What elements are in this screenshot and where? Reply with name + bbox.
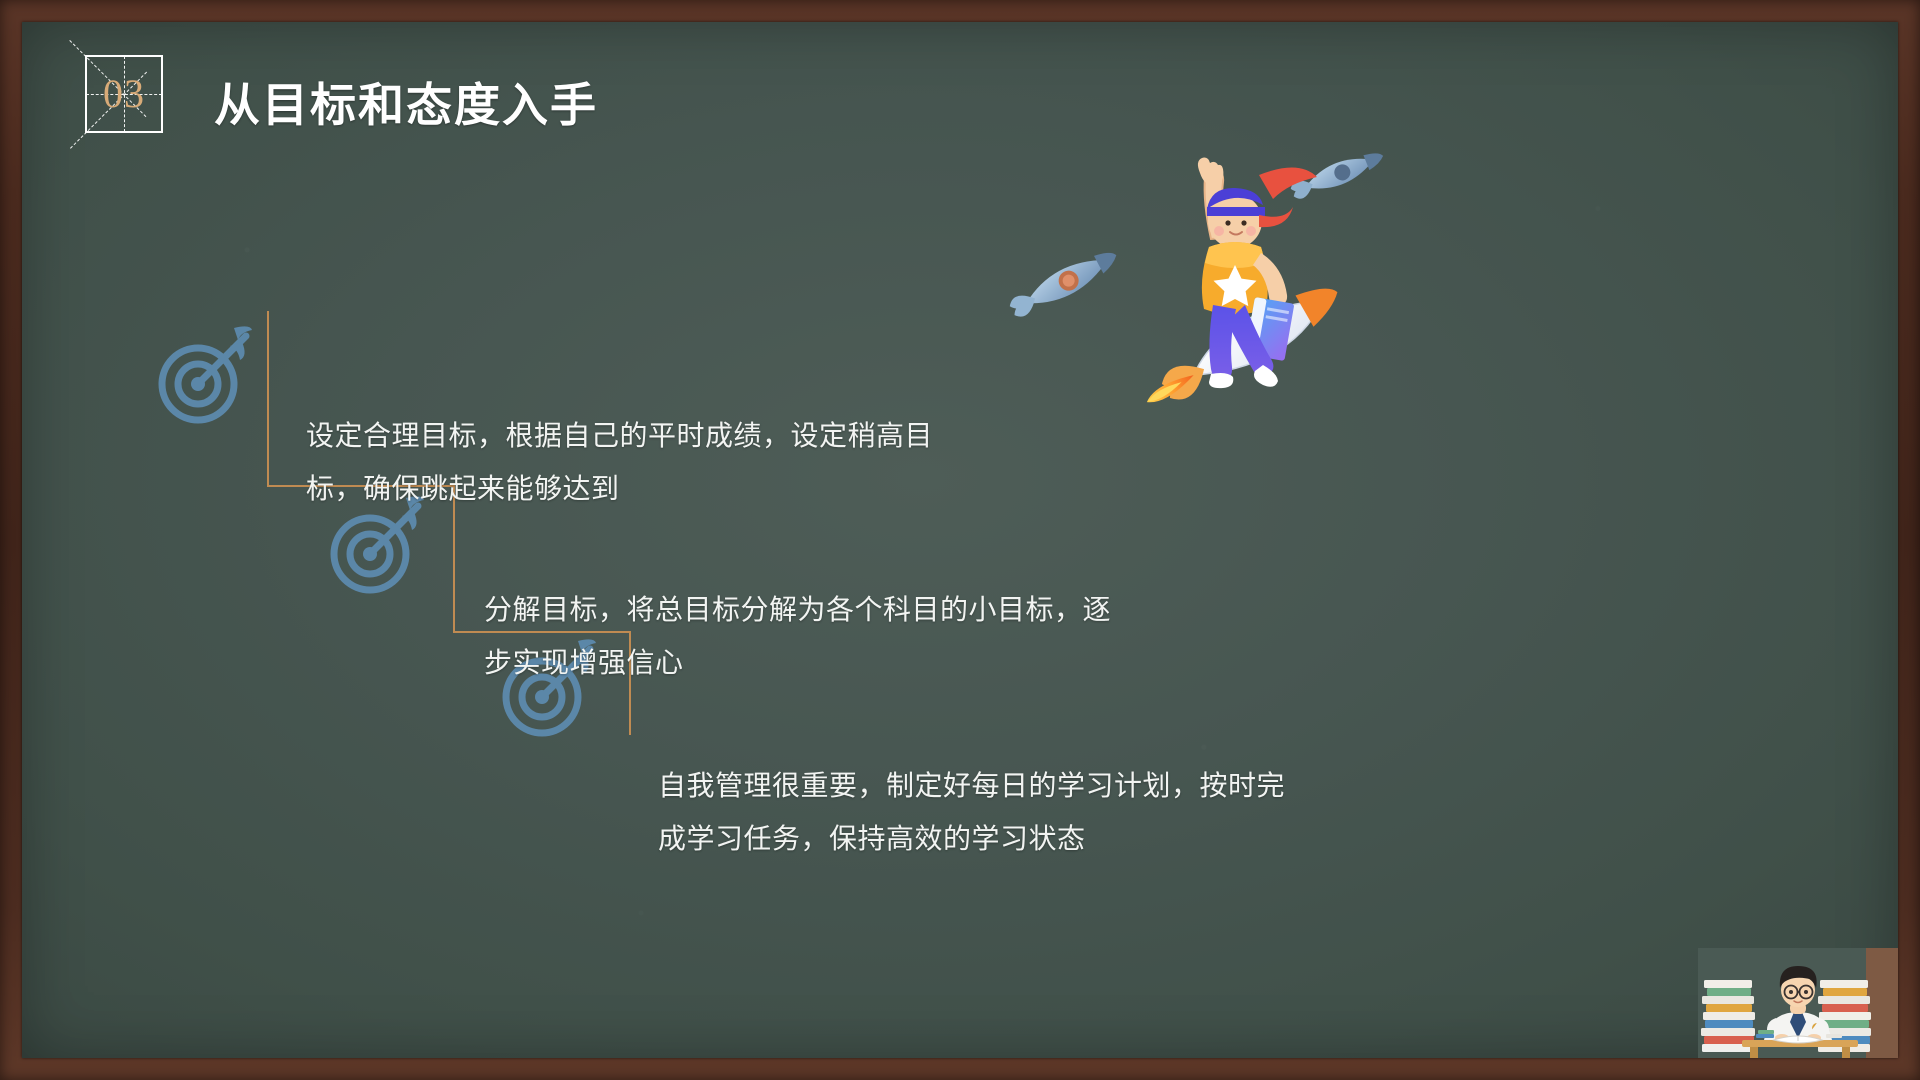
chalkboard-panel: 03 从目标和态度入手 (22, 22, 1898, 1058)
content-text-block: 自我管理很重要，制定好每日的学习计划，按时完 成学习任务，保持高效的学习状态 (658, 760, 1558, 866)
target-icon (150, 322, 260, 437)
page-title: 从目标和态度入手 (214, 69, 598, 135)
presentation-slide: 03 从目标和态度入手 (0, 0, 1920, 1080)
small-rocket-left (1006, 244, 1122, 322)
connector-segment-v1 (267, 311, 269, 487)
chalk-texture-overlay (22, 22, 1898, 1058)
section-number-box: 03 (85, 55, 163, 133)
student-studying-illustration (1698, 948, 1898, 1058)
content-text-block: 分解目标，将总目标分解为各个科目的小目标，逐 步实现增强信心 (484, 584, 1364, 690)
section-number-text: 03 (87, 57, 161, 131)
girl-on-rocket-illustration (997, 147, 1427, 492)
